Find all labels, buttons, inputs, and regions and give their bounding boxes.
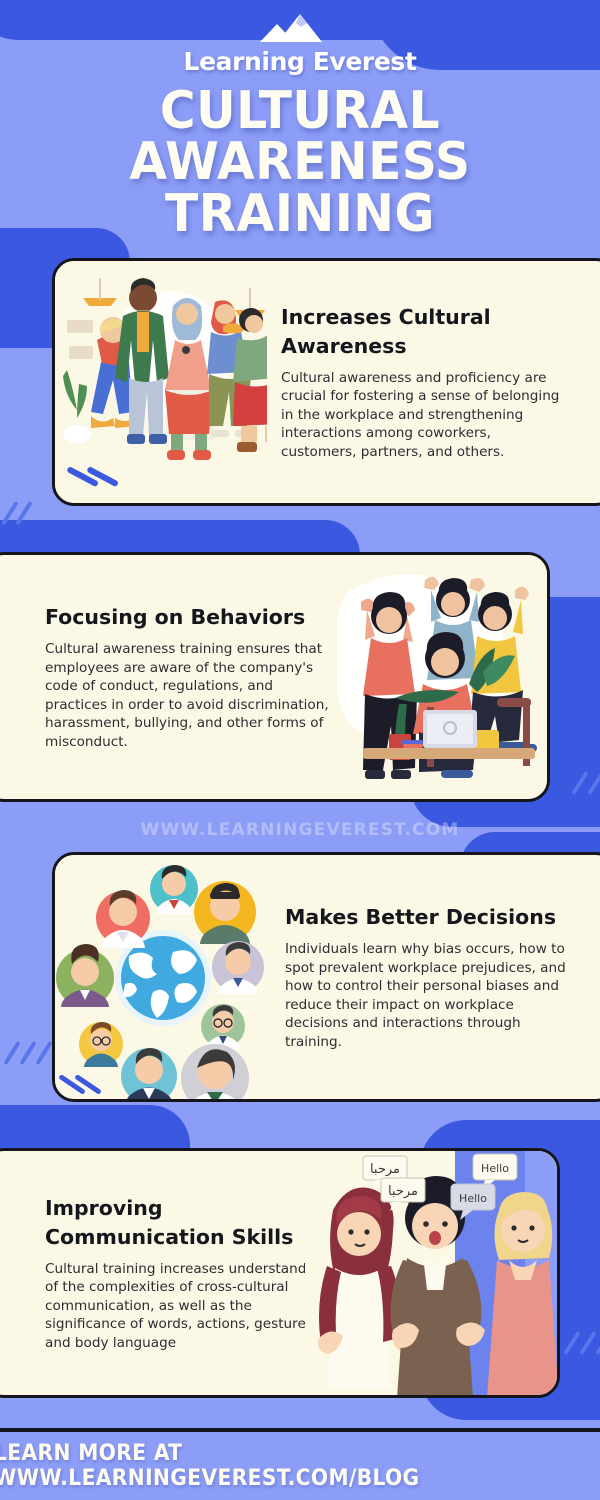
card-text-block: Improving Communication Skills Cultural … xyxy=(27,1194,349,1353)
bubble-text-hello: Hello xyxy=(481,1162,509,1175)
footer-cta-text: LEARN MORE AT WWW.LEARNINGEVEREST.COM/BL… xyxy=(0,1441,600,1491)
card-title: Improving Communication Skills xyxy=(45,1194,331,1252)
benefit-card: Makes Better Decisions Individuals learn… xyxy=(52,852,600,1102)
page-title-line-2: AWARENESS TRAINING xyxy=(0,137,600,240)
brand-name: Learning Everest xyxy=(184,47,417,76)
benefit-card: Focusing on Behaviors Cultural awareness… xyxy=(0,552,550,802)
brand-logo: Learning Everest xyxy=(184,12,417,76)
card-text-block: Increases Cultural Awareness Cultural aw… xyxy=(263,303,593,462)
card-title: Makes Better Decisions xyxy=(285,903,579,932)
card-text-block: Focusing on Behaviors Cultural awareness… xyxy=(27,603,357,751)
bubble-text-arabic: مرحبا xyxy=(388,1184,418,1199)
footer-bar: LEARN MORE AT WWW.LEARNINGEVEREST.COM/BL… xyxy=(0,1428,600,1500)
bubble-text-hello: Hello xyxy=(459,1192,487,1205)
page-title-line-1: CULTURAL xyxy=(0,86,600,137)
page-title: CULTURAL AWARENESS TRAINING xyxy=(0,86,600,240)
globe-with-avatars-illustration xyxy=(55,855,271,1099)
diverse-group-standing-illustration xyxy=(55,261,267,503)
card-body: Individuals learn why bias occurs, how t… xyxy=(285,940,579,1051)
card-body: Cultural awareness and proficiency are c… xyxy=(281,369,569,461)
header: Learning Everest CULTURAL AWARENESS TRAI… xyxy=(0,0,600,240)
benefit-card: Improving Communication Skills Cultural … xyxy=(0,1148,560,1398)
mountain-icon xyxy=(244,12,356,46)
bubble-text-arabic: مرحبا xyxy=(370,1162,400,1177)
celebrating-team-at-desk-illustration xyxy=(337,555,547,799)
card-title: Focusing on Behaviors xyxy=(45,603,339,632)
people-greeting-speech-bubbles-illustration: مرحبا مرحبا Hello Hello xyxy=(305,1151,557,1395)
site-watermark: WWW.LEARNINGEVEREST.COM xyxy=(0,820,600,840)
card-body: Cultural training increases understandin… xyxy=(45,1260,331,1352)
card-body: Cultural awareness training ensures that… xyxy=(45,640,339,751)
card-text-block: Makes Better Decisions Individuals learn… xyxy=(267,903,597,1051)
benefit-card: Increases Cultural Awareness Cultural aw… xyxy=(52,258,600,506)
card-title: Increases Cultural Awareness xyxy=(281,303,569,361)
